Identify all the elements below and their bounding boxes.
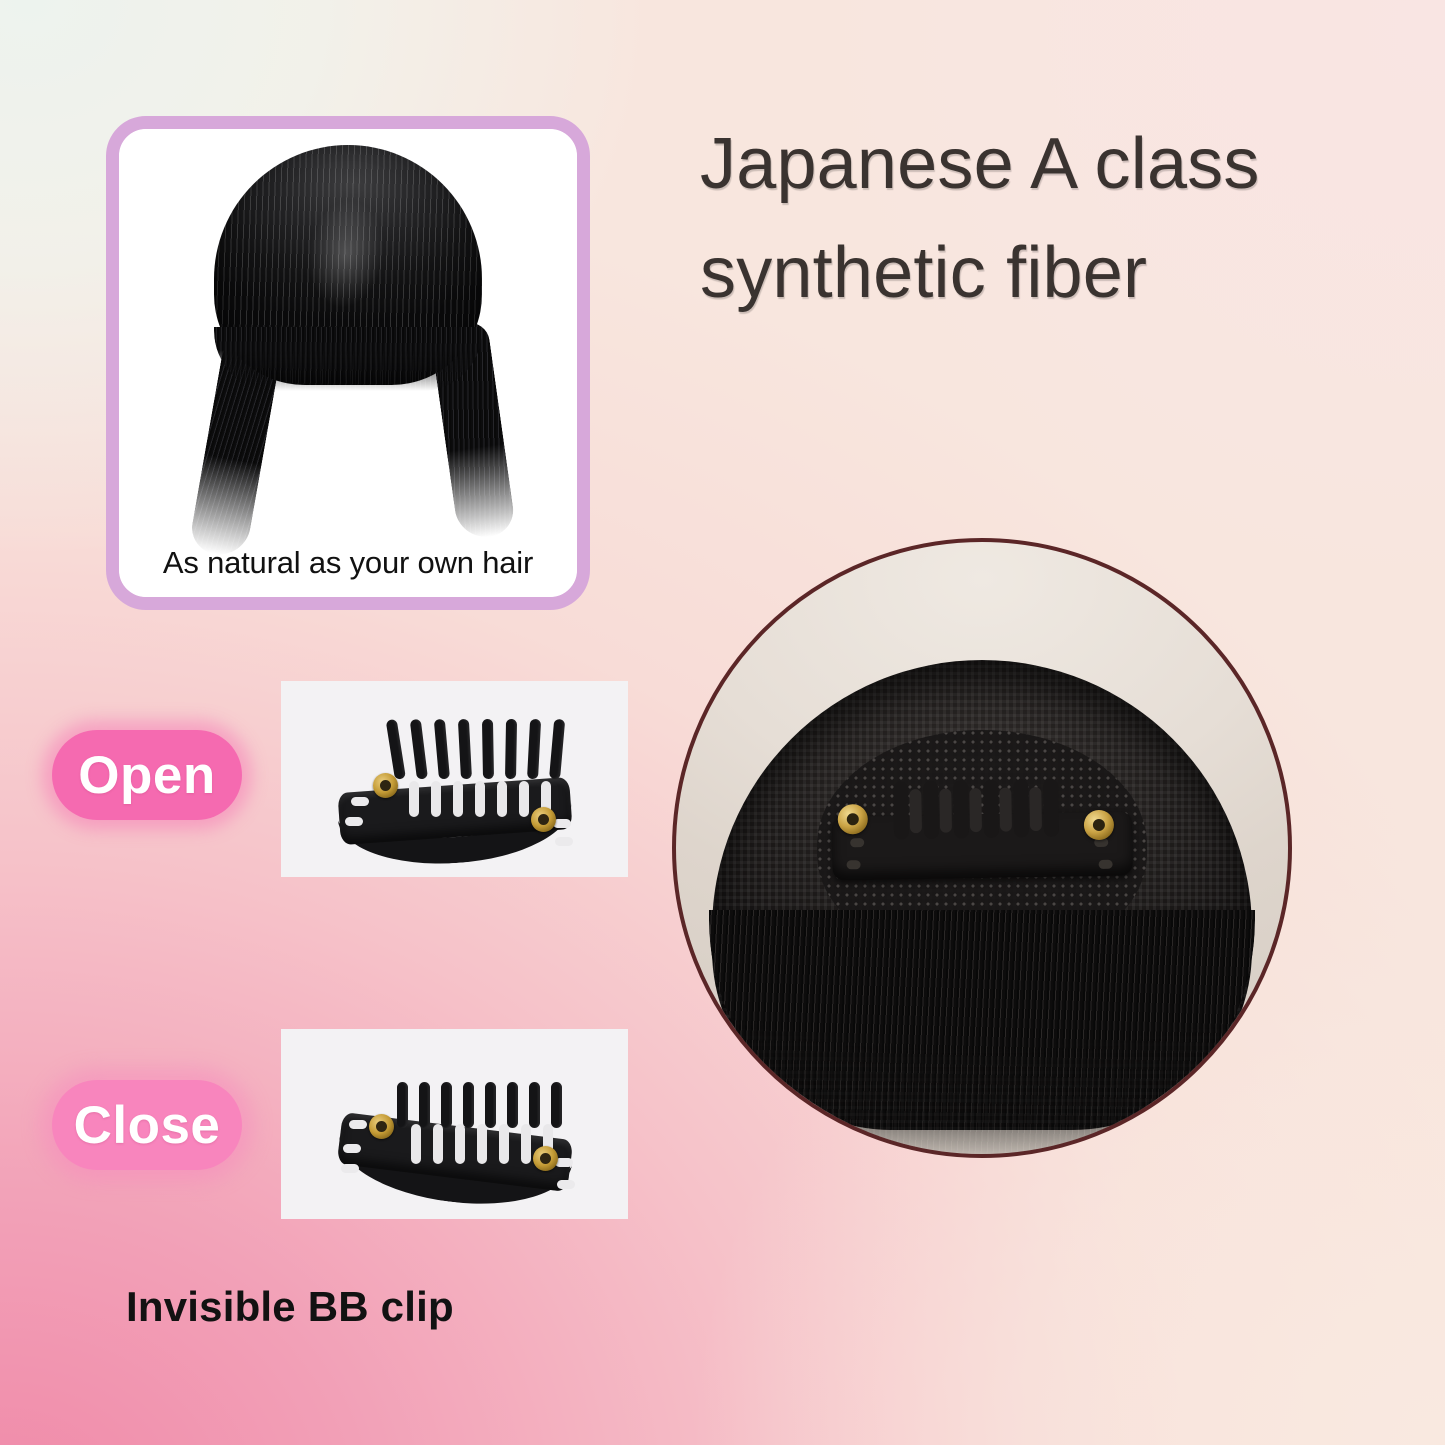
clip-tooth — [983, 780, 999, 838]
clip-slot — [521, 1124, 531, 1164]
circle-feature: Comfortable & Breathable — [672, 538, 1292, 1158]
headline-line-2: synthetic fiber — [700, 219, 1420, 328]
headline-line-1: Japanese A class — [700, 124, 1260, 204]
clip-tooth — [457, 719, 471, 779]
clip-slot — [453, 781, 463, 817]
clip-hole — [555, 837, 573, 846]
clip-slot — [409, 781, 419, 817]
clip-hole — [850, 838, 864, 847]
infographic-canvas: As natural as your own hair Japanese A c… — [0, 0, 1445, 1445]
clip-tooth — [441, 1082, 452, 1128]
clip-slot — [411, 1124, 421, 1164]
clip-gap — [1029, 787, 1042, 831]
clip-slot — [497, 781, 507, 817]
clip-tooth — [507, 1082, 518, 1128]
clip-state-badge-open: Open — [52, 730, 242, 820]
clip-tooth — [923, 781, 939, 839]
clip-hole — [847, 860, 861, 869]
clip-slot — [455, 1124, 465, 1164]
clip-rivet — [533, 1146, 558, 1171]
clip-tooth — [433, 719, 449, 780]
clip-tooth — [1043, 779, 1059, 837]
clip-hole — [1099, 860, 1113, 869]
headline: Japanese A class synthetic fiber — [700, 110, 1420, 329]
clip-slot — [519, 781, 529, 817]
clip-slot — [475, 781, 485, 817]
clip-rivet — [369, 1114, 394, 1139]
clip-tooth — [893, 781, 909, 839]
clip-tooth — [529, 1082, 540, 1128]
clip-hole — [557, 1180, 575, 1189]
clip-gap — [999, 787, 1012, 831]
clip-gap — [909, 789, 922, 833]
natural-hair-card-inner: As natural as your own hair — [119, 129, 577, 597]
invisible-bb-clip-label: Invisible BB clip — [126, 1283, 454, 1331]
clip-hole — [351, 797, 369, 806]
clip-gap — [939, 789, 952, 833]
clip-tooth — [505, 719, 517, 779]
attached-snap-clip — [831, 771, 1133, 888]
clip-tooth — [409, 719, 427, 780]
clip-tooth — [485, 1082, 496, 1128]
clip-gap — [969, 788, 982, 832]
clip-photo-open — [281, 681, 628, 877]
clip-hole — [345, 817, 363, 826]
clip-rivet — [531, 807, 556, 832]
clip-slot — [477, 1124, 487, 1164]
clip-hole — [343, 1144, 361, 1153]
natural-hair-card: As natural as your own hair — [106, 116, 590, 610]
clip-tooth — [551, 1082, 562, 1128]
clip-rivet — [373, 773, 398, 798]
clip-tooth — [481, 719, 493, 779]
clip-state-badge-close: Close — [52, 1080, 242, 1170]
clip-hole — [349, 1120, 367, 1129]
clip-tooth — [419, 1082, 430, 1128]
clip-tooth — [463, 1082, 474, 1128]
clip-tooth — [397, 1082, 408, 1128]
clip-slot — [431, 781, 441, 817]
clip-tooth — [385, 719, 405, 780]
bangs-hairpiece-image — [198, 145, 498, 535]
clip-slot — [499, 1124, 509, 1164]
hair-fringe — [709, 910, 1255, 1158]
clip-photo-close — [281, 1029, 628, 1219]
natural-hair-caption: As natural as your own hair — [119, 545, 577, 581]
clip-tooth — [953, 780, 969, 838]
clip-slot — [433, 1124, 443, 1164]
clip-tooth — [1013, 779, 1029, 837]
clip-hole — [341, 1164, 359, 1173]
breathable-mesh-photo — [672, 538, 1292, 1158]
